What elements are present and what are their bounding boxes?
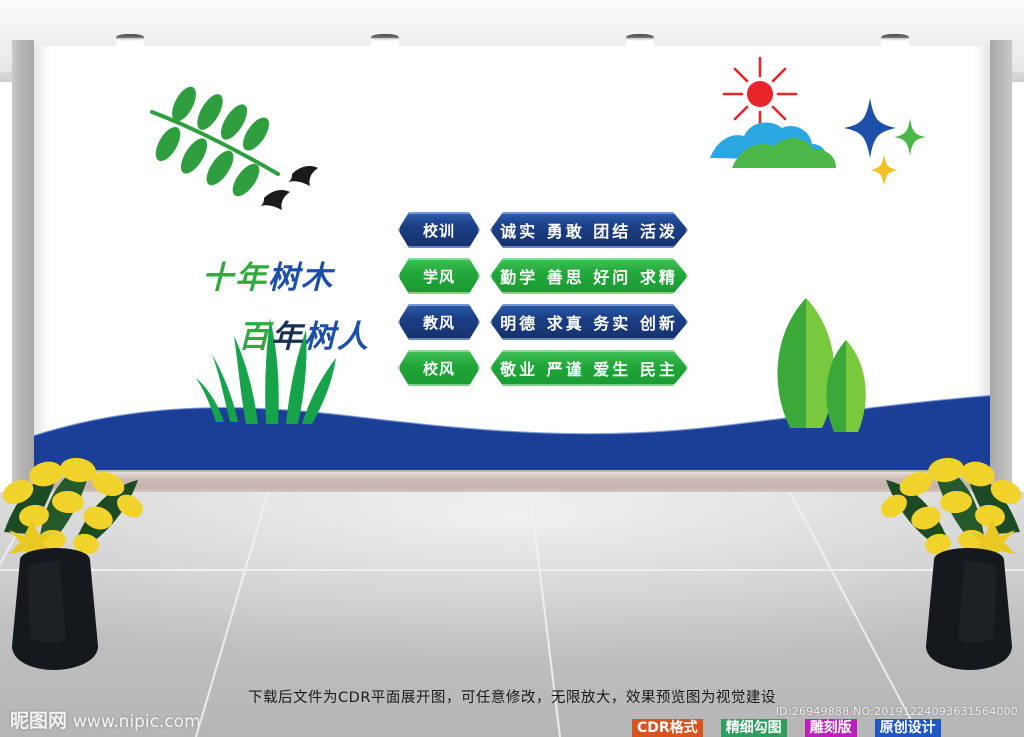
banner-bar: 敬业 严谨 爱生 民主 [490,350,688,386]
slogan-line-1: 十年树木 [196,252,416,297]
banner-bar: 明德 求真 务实 创新 [490,304,688,340]
banner-row: 校训 诚实 勇敢 团结 活泼 [398,212,688,248]
banner-tag: 学风 [398,258,480,294]
baseboard [30,472,994,494]
banner-row: 教风 明德 求真 务实 创新 [398,304,688,340]
feature-tag: 雕刻版 [805,719,857,737]
sparkle-yellow [870,154,898,186]
swallow-icons [260,166,318,210]
sun-hills-sparkles-icon [710,58,926,186]
sparkle-large [844,98,896,158]
slogan-line-2: 百年树人 [196,311,416,356]
leaf-branch-icon [151,83,318,210]
site-url: www.nipic.com [73,712,201,732]
site-name-cn: 昵图网 [10,706,67,733]
asset-id-text: ID:26949888 NO:20191224093631564000 [776,705,1018,718]
banner-tag-label: 校风 [423,358,455,379]
banner-tag: 教风 [398,304,480,340]
feature-tag-list: CDR格式 精细勾图 雕刻版 原创设计 [632,719,941,737]
banner-bar-label: 敬业 严谨 爱生 民主 [500,356,678,380]
feature-tag: CDR格式 [632,719,703,737]
pillar-right [990,40,1012,488]
slogan-seg: 树人 [304,319,370,355]
banner-tag-label: 学风 [423,266,455,287]
banner-list: 校训 诚实 勇敢 团结 活泼 学风 勤学 善思 好问 求精 教风 明德 求真 务… [398,212,688,396]
pillar-left [12,40,34,488]
slogan-seg: 年 [271,319,304,355]
twin-leaves-icon [777,298,865,432]
banner-tag: 校风 [398,350,480,386]
banner-row: 校风 敬业 严谨 爱生 民主 [398,350,688,386]
banner-tag-label: 校训 [423,220,455,241]
feature-tag: 原创设计 [875,719,941,737]
screenshot-root: 十年树木 百年树人 校训 诚实 勇敢 团结 活泼 学风 勤学 善思 好问 求精 … [0,0,1024,737]
banner-bar: 勤学 善思 好问 求精 [490,258,688,294]
flower-vase-left [0,440,154,670]
site-watermark: 昵图网 www.nipic.com [10,706,201,733]
banner-tag-label: 教风 [423,312,455,333]
slogan-seg: 百 [238,319,271,355]
banner-bar: 诚实 勇敢 团结 活泼 [490,212,688,248]
feature-tag: 精细勾图 [721,719,787,737]
banner-bar-label: 诚实 勇敢 团结 活泼 [500,218,678,242]
slogan-block: 十年树木 百年树人 [196,252,416,356]
banner-row: 学风 勤学 善思 好问 求精 [398,258,688,294]
banner-bar-label: 勤学 善思 好问 求精 [500,264,678,288]
sparkle-green [894,118,926,156]
sun-disc [747,81,773,107]
flower-vase-right [870,440,1024,670]
slogan-seg: 树木 [268,260,334,296]
banner-tag: 校训 [398,212,480,248]
slogan-seg: 十年 [202,260,268,296]
download-note: 下载后文件为CDR平面展开图，可任意修改，无限放大，效果预览图为视觉建设 [0,686,1024,707]
banner-bar-label: 明德 求真 务实 创新 [500,310,678,334]
